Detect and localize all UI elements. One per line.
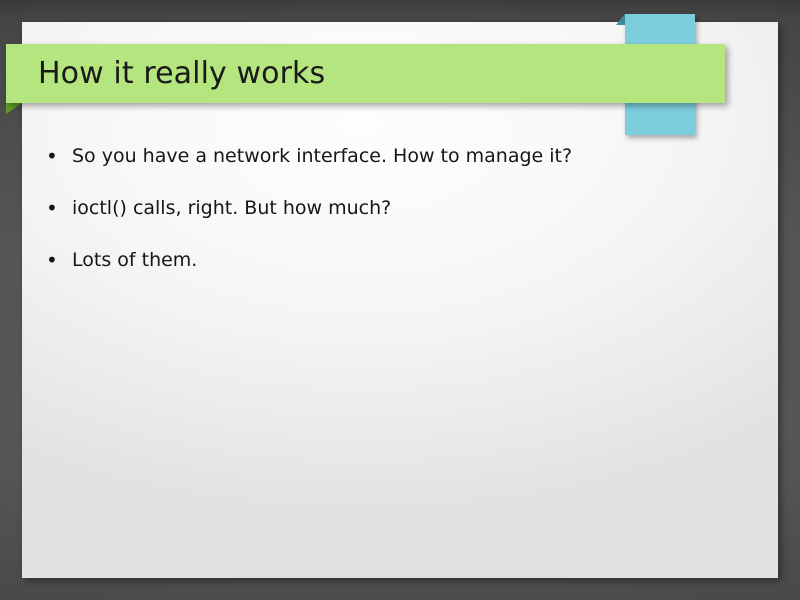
bullet-point-icon: • (46, 192, 72, 224)
slide-frame: How it really works • So you have a netw… (0, 0, 800, 600)
list-item: • ioctl() calls, right. But how much? (22, 192, 722, 244)
bullet-point-icon: • (46, 140, 72, 172)
list-item-label: Lots of them. (72, 244, 197, 276)
bullet-point-icon: • (46, 244, 72, 276)
page-title: How it really works (6, 59, 325, 89)
list-item-label: So you have a network interface. How to … (72, 140, 572, 172)
list-item: • Lots of them. (22, 244, 722, 296)
bullet-list: • So you have a network interface. How t… (22, 140, 722, 296)
title-banner-fold-icon (6, 103, 22, 114)
title-banner: How it really works (6, 44, 725, 103)
list-item-label: ioctl() calls, right. But how much? (72, 192, 391, 224)
accent-bar-fold-icon (616, 14, 625, 25)
list-item: • So you have a network interface. How t… (22, 140, 722, 192)
